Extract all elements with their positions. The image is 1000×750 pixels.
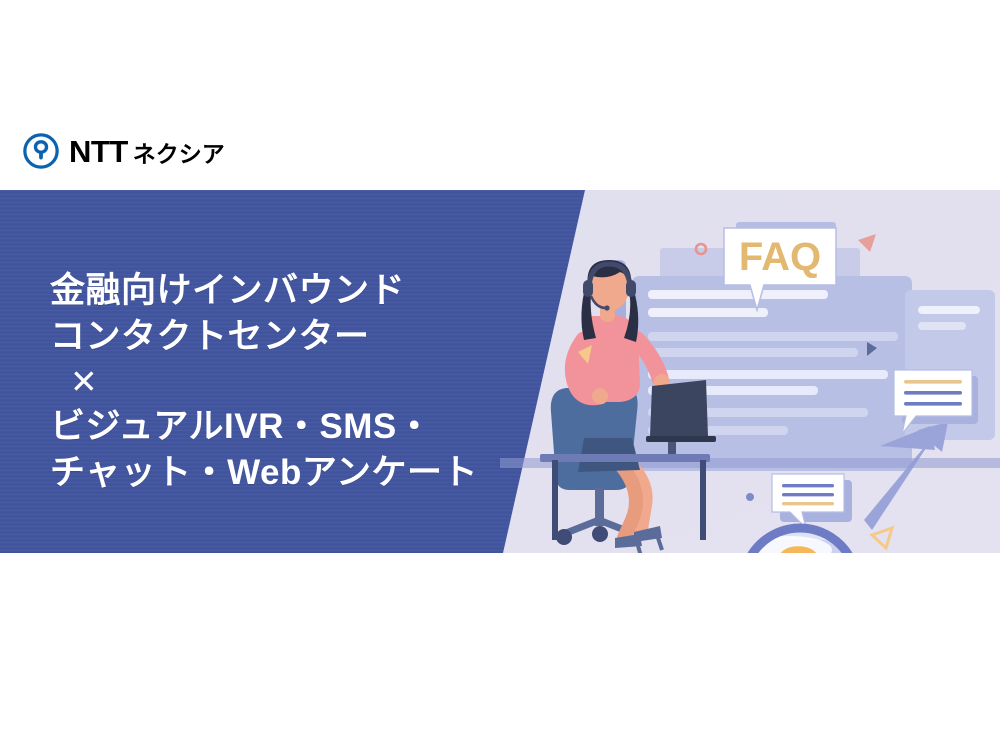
headline-line-2: コンタクトセンター xyxy=(50,314,520,360)
banner-headline: 金融向けインバウンド コンタクトセンター ✕ ビジュアルIVR・SMS・ チャッ… xyxy=(50,268,520,495)
brand-name-jp: ネクシア xyxy=(133,141,225,167)
brand-name: NTT xyxy=(69,134,128,169)
brand-logo[interactable]: NTTネクシア xyxy=(22,132,225,170)
headline-line-4: チャット・Webアンケート xyxy=(50,450,520,496)
brand-wordmark: NTTネクシア xyxy=(69,136,225,167)
headline-separator: ✕ xyxy=(70,365,520,398)
headline-line-3: ビジュアルIVR・SMS・ xyxy=(50,404,520,450)
ntt-circle-loop-icon xyxy=(22,132,60,170)
hero-banner[interactable]: FAQ xyxy=(0,190,1000,553)
headline-line-1: 金融向けインバウンド xyxy=(50,268,520,314)
